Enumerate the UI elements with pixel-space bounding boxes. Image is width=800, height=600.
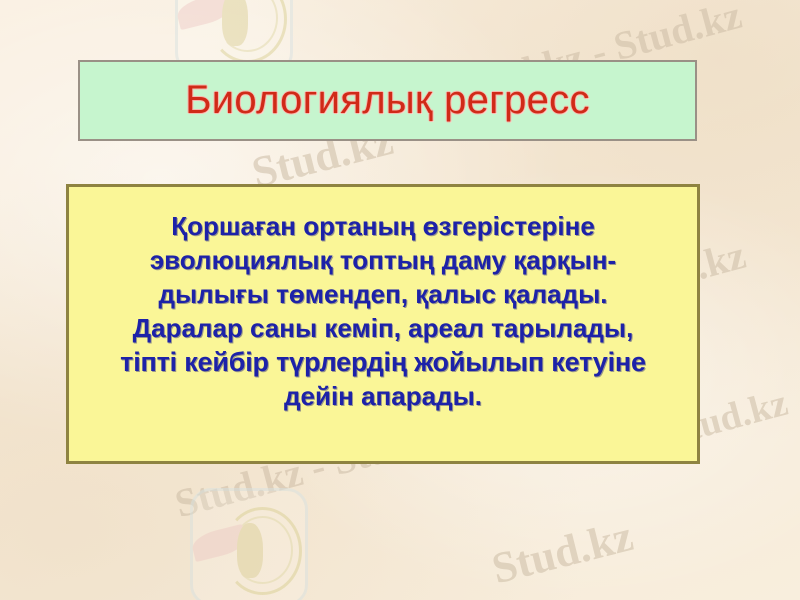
slide-title-box: Биологиялық регресс bbox=[78, 60, 697, 141]
body-text-line: дейін апарады. bbox=[75, 379, 691, 413]
page-title: Биологиялық регресс bbox=[185, 78, 590, 123]
body-text-line: Даралар саны кеміп, ареал тарылады, bbox=[75, 311, 691, 345]
body-text-line: Қоршаған ортаның өзгерістеріне bbox=[75, 209, 691, 243]
body-text-line: тіпті кейбір түрлердің жойылып кетуіне bbox=[75, 345, 691, 379]
slide-body-box: Қоршаған ортаның өзгерістерінеэволюциялы… bbox=[66, 184, 700, 464]
watermark-text: Stud.kz bbox=[487, 510, 638, 594]
presentation-slide: Stud.kzStud.kzStud.kzStud.kz - Stud.kzSt… bbox=[0, 0, 800, 600]
body-text-line: эволюциялық топтың даму қарқын- bbox=[75, 243, 691, 277]
body-text-block: Қоршаған ортаның өзгерістерінеэволюциялы… bbox=[75, 209, 691, 413]
hummingbird-logo-watermark bbox=[190, 488, 308, 600]
body-text-line: дылығы төмендеп, қалыс қалады. bbox=[75, 277, 691, 311]
